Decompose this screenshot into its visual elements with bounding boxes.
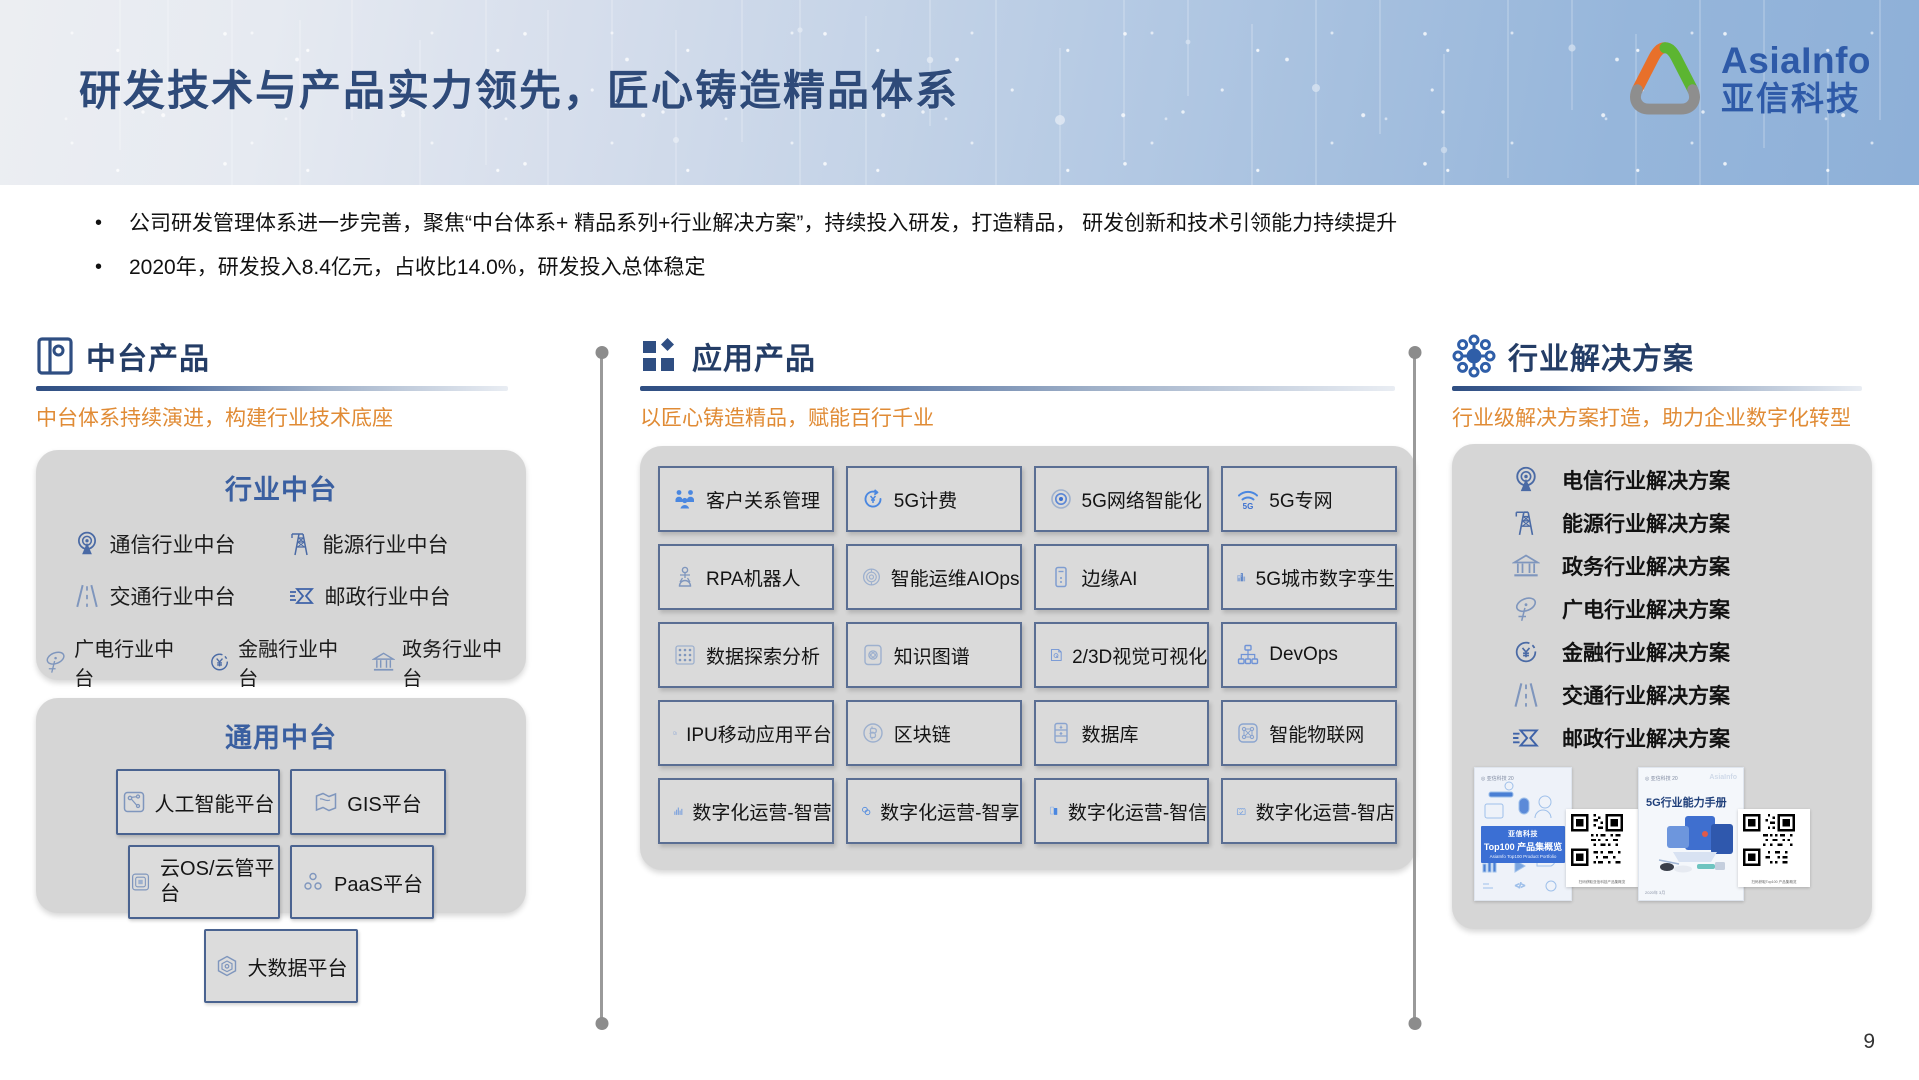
solutions-panel: 电信行业解决方案 能源行业解决方案 政务行业解决方案	[1452, 444, 1872, 929]
satellite-dish-icon	[1512, 595, 1540, 623]
bar-chart-icon	[673, 799, 683, 823]
slide-root: 研发技术与产品实力领先，匠心铸造精品体系 AsiaInfo 亚信科技 • 公司研…	[0, 0, 1919, 1080]
app-tile-label: 5G网络智能化	[1082, 486, 1202, 513]
solution-item-postal[interactable]: 邮政行业解决方案	[1452, 716, 1872, 759]
map-icon	[314, 790, 338, 814]
asiainfo-ring-icon	[1623, 36, 1707, 120]
general-panel-title: 通用中台	[36, 716, 526, 755]
application-column-header: 应用产品	[640, 330, 1415, 382]
app-tile-iot[interactable]: 智能物联网	[1221, 700, 1397, 766]
aiops-icon	[861, 565, 882, 589]
brochure-cover-5g: ◎ 亚信科技 20 AsiaInfo 5G行业能力手册	[1638, 767, 1744, 901]
brochure-cover-top100: ◎ 亚信科技 20	[1474, 767, 1572, 901]
industry-item-finance: 金融行业中台	[208, 633, 354, 691]
brochure-title-band: 亚信科技 Top100 产品集概览 AsiaInfo Top100 Produc…	[1481, 826, 1565, 863]
summary-bullets: • 公司研发管理体系进一步完善，聚焦“中台体系+ 精品系列+行业解决方案”，持续…	[95, 208, 1855, 295]
industry-panel-title: 行业中台	[36, 468, 526, 507]
app-tile-knowledge-graph[interactable]: 知识图谱	[846, 622, 1022, 688]
app-tile-aiops[interactable]: 智能运维AIOps	[846, 544, 1022, 610]
page-title: 研发技术与产品实力领先，匠心铸造精品体系	[79, 57, 959, 118]
bullet-marker-icon: •	[95, 252, 129, 283]
app-tile-5g-network-ai[interactable]: 5G网络智能化	[1034, 466, 1210, 532]
solution-item-finance[interactable]: 金融行业解决方案	[1452, 630, 1872, 673]
qr-code-top100[interactable]: 扫码获取亚信科技产品集概览	[1566, 809, 1638, 887]
app-tile-label: 数字化运营-智店	[1256, 798, 1395, 825]
brochure-date: 2020年 3月	[1645, 890, 1665, 896]
app-tile-label: RPA机器人	[706, 564, 801, 591]
industry-item-label: 邮政行业中台	[325, 581, 451, 611]
app-tile-devops[interactable]: DevOps	[1221, 622, 1397, 688]
edge-server-icon	[1049, 565, 1073, 589]
signal-tower-icon	[74, 531, 100, 557]
app-tile-edge-ai[interactable]: 边缘AI	[1034, 544, 1210, 610]
column-application-products: 应用产品 以匠心铸造精品，赋能百行千业 客户关系管理	[640, 330, 1415, 870]
tile-gis-platform[interactable]: GIS平台	[290, 769, 446, 835]
city-buildings-icon	[1236, 565, 1246, 589]
svg-text:5G: 5G	[1243, 502, 1254, 511]
tile-label: 人工智能平台	[155, 788, 275, 817]
solutions-column-title: 行业解决方案	[1508, 334, 1694, 378]
app-tile-label: 5G专网	[1269, 486, 1332, 513]
industry-platform-list: 通信行业中台 能源行业中台	[36, 529, 526, 691]
ai-network-icon	[122, 790, 146, 814]
industry-item-transport: 交通行业中台	[74, 581, 289, 611]
qr-caption: 扫码获取Top100 产品集概览	[1738, 880, 1810, 885]
industry-item-label: 政务行业中台	[402, 633, 518, 691]
solution-item-label: 金融行业解决方案	[1562, 637, 1730, 667]
bullet-item: • 2020年，研发投入8.4亿元，占收比14.0%，研发投入总体稳定	[95, 252, 1855, 285]
bigdata-icon	[215, 954, 239, 978]
divider-dot-top	[1408, 346, 1421, 359]
platform-column-rule	[36, 386, 508, 391]
industry-item-label: 交通行业中台	[110, 581, 236, 611]
crm-users-icon	[673, 487, 697, 511]
divider-dot-bottom	[1408, 1017, 1421, 1030]
column-divider-right	[1413, 352, 1416, 1024]
divider-dot-top	[595, 346, 608, 359]
billing-yuan-icon	[861, 487, 885, 511]
knowledge-graph-icon	[861, 643, 885, 667]
hub-nodes-icon	[1452, 334, 1496, 378]
platform-column-subtitle: 中台体系持续演进，构建行业技术底座	[36, 405, 526, 432]
app-tile-label: 5G城市数字孪生	[1256, 564, 1395, 591]
application-row: RPA机器人 智能运维AIOps	[658, 544, 1397, 610]
mail-express-icon	[289, 585, 315, 607]
solution-item-transport[interactable]: 交通行业解决方案	[1452, 673, 1872, 716]
3d-view-icon	[1049, 643, 1064, 667]
qr-caption: 扫码获取亚信科技产品集概览	[1566, 880, 1638, 885]
app-tile-label: 数字化运营-智信	[1068, 798, 1207, 825]
industry-platform-panel: 行业中台 通信行业中台	[36, 450, 526, 680]
bullet-item: • 公司研发管理体系进一步完善，聚焦“中台体系+ 精品系列+行业解决方案”，持续…	[95, 208, 1855, 241]
cloud-os-icon	[130, 870, 151, 894]
solution-item-energy[interactable]: 能源行业解决方案	[1452, 501, 1872, 544]
app-tile-digital-ops-zhidian[interactable]: 数字化运营-智店	[1221, 778, 1397, 844]
road-icon	[1512, 681, 1540, 709]
app-tile-label: DevOps	[1269, 644, 1338, 666]
industry-row: 交通行业中台 邮政行业中台	[36, 581, 526, 611]
divider-dot-bottom	[595, 1017, 608, 1030]
iot-icon	[1236, 721, 1260, 745]
brochure-gallery: ◎ 亚信科技 20	[1452, 759, 1872, 901]
bank-building-icon	[1512, 552, 1540, 580]
paas-icon	[301, 870, 325, 894]
app-tile-ipu-mobile[interactable]: IPU移动应用平台	[658, 700, 834, 766]
application-row: 数据探索分析 知识图谱	[658, 622, 1397, 688]
solution-item-telecom[interactable]: 电信行业解决方案	[1452, 458, 1872, 501]
mail-express-icon	[1512, 726, 1540, 750]
brochure-artwork	[1639, 768, 1743, 900]
asiainfo-logo: AsiaInfo 亚信科技	[1623, 36, 1871, 120]
brochure-subtitle: AsiaInfo Top100 Product Portfolio	[1481, 854, 1565, 859]
bullet-text: 2020年，研发投入8.4亿元，占收比14.0%，研发投入总体稳定	[129, 252, 1855, 285]
bullet-text: 公司研发管理体系进一步完善，聚焦“中台体系+ 精品系列+行业解决方案”，持续投入…	[129, 208, 1855, 241]
application-products-panel: 客户关系管理 5G计费 5G网络智能化	[640, 446, 1415, 870]
shop-icon	[1236, 799, 1246, 823]
blockchain-icon	[861, 721, 885, 745]
application-row: IPU移动应用平台 区块链 数据库	[658, 700, 1397, 766]
industry-item-label: 能源行业中台	[323, 529, 449, 559]
industry-item-label: 通信行业中台	[110, 529, 236, 559]
brochure-brand: 亚信科技	[1481, 829, 1565, 839]
brochure-top100[interactable]: ◎ 亚信科技 20	[1474, 767, 1572, 901]
app-tile-database[interactable]: 数据库	[1034, 700, 1210, 766]
devops-tree-icon	[1236, 643, 1260, 667]
app-tile-5g-private-net[interactable]: 5G 5G专网	[1221, 466, 1397, 532]
satellite-dish-icon	[44, 649, 67, 675]
solution-item-government[interactable]: 政务行业解决方案	[1452, 544, 1872, 587]
app-tile-crm[interactable]: 客户关系管理	[658, 466, 834, 532]
app-tile-digital-ops-zhixin[interactable]: 数字化运营-智信	[1034, 778, 1210, 844]
app-tile-blockchain[interactable]: 区块链	[846, 700, 1022, 766]
app-tile-label: 2/3D视觉可视化	[1072, 642, 1207, 669]
solutions-column-header: 行业解决方案	[1452, 330, 1872, 382]
rpa-robot-icon	[673, 565, 697, 589]
app-tile-label: 数字化运营-智营	[692, 798, 831, 825]
tile-bigdata-platform[interactable]: 大数据平台	[204, 929, 358, 1003]
brochure-title: Top100 产品集概览	[1481, 840, 1565, 853]
app-tile-3d-visual[interactable]: 2/3D视觉可视化	[1034, 622, 1210, 688]
app-tile-label: 5G计费	[894, 486, 957, 513]
signal-tower-icon	[1512, 466, 1540, 494]
logo-wordmark: AsiaInfo 亚信科技	[1721, 42, 1871, 115]
qr-code-icon	[1743, 814, 1795, 866]
industry-item-broadcast: 广电行业中台	[44, 633, 190, 691]
app-tile-label: 知识图谱	[894, 642, 970, 669]
logo-english: AsiaInfo	[1721, 42, 1871, 79]
database-icon	[1049, 721, 1073, 745]
industry-item-telecom: 通信行业中台	[74, 529, 289, 559]
industry-row: 广电行业中台 金融行业中台	[36, 633, 526, 691]
app-tile-label: IPU移动应用平台	[686, 720, 832, 747]
svg-text:</>: </>	[1515, 883, 1525, 890]
general-platform-panel: 通用中台 人工智能平台	[36, 698, 526, 913]
platform-icon	[36, 336, 74, 376]
app-tile-label: 数字化运营-智享	[880, 798, 1019, 825]
qr-code-icon	[1571, 814, 1623, 866]
tile-label: GIS平台	[347, 788, 421, 817]
tile-label: 云OS/云管平台	[160, 857, 278, 907]
column-platform-products: 中台产品 中台体系持续演进，构建行业技术底座 行业中台 通信行业中台	[36, 330, 526, 913]
yuan-coin-icon	[1512, 638, 1540, 666]
bullet-marker-icon: •	[95, 208, 129, 239]
industry-item-postal: 邮政行业中台	[289, 581, 489, 611]
industry-item-government: 政务行业中台	[372, 633, 518, 691]
industry-row: 通信行业中台 能源行业中台	[36, 529, 526, 559]
solution-item-label: 政务行业解决方案	[1562, 551, 1730, 581]
page-number: 9	[1863, 1030, 1875, 1054]
app-tile-digital-ops-zhiying[interactable]: 数字化运营-智营	[658, 778, 834, 844]
app-tile-label: 数据库	[1082, 720, 1139, 747]
app-tile-label: 数据探索分析	[706, 642, 820, 669]
yuan-coin-icon	[208, 650, 231, 674]
platform-column-header: 中台产品	[36, 330, 526, 382]
power-tower-icon	[289, 531, 313, 557]
application-row: 客户关系管理 5G计费 5G网络智能化	[658, 466, 1397, 532]
app-squares-icon	[640, 336, 680, 376]
app-tile-label: 智能物联网	[1269, 720, 1364, 747]
solutions-column-rule	[1452, 386, 1862, 391]
message-icon	[1049, 799, 1059, 823]
road-icon	[74, 583, 100, 609]
app-tile-rpa[interactable]: RPA机器人	[658, 544, 834, 610]
column-industry-solutions: 行业解决方案 行业级解决方案打造，助力企业数字化转型 电信行业解决方案	[1452, 330, 1872, 929]
column-divider-left	[600, 352, 603, 1024]
logo-chinese: 亚信科技	[1721, 82, 1871, 115]
mobile-platform-icon	[673, 721, 677, 745]
link-share-icon	[861, 799, 871, 823]
tile-cloud-os[interactable]: 云OS/云管平台	[128, 845, 280, 919]
solution-item-label: 电信行业解决方案	[1562, 465, 1730, 495]
app-tile-digital-ops-zhixiang[interactable]: 数字化运营-智享	[846, 778, 1022, 844]
industry-item-label: 金融行业中台	[238, 633, 354, 691]
application-column-rule	[640, 386, 1395, 391]
app-tile-label: 客户关系管理	[706, 486, 820, 513]
bank-building-icon	[372, 650, 395, 674]
solutions-column-subtitle: 行业级解决方案打造，助力企业数字化转型	[1452, 405, 1872, 432]
qr-code-5g[interactable]: 扫码获取Top100 产品集概览	[1738, 809, 1810, 887]
tile-ai-platform[interactable]: 人工智能平台	[116, 769, 280, 835]
brochure-5g[interactable]: ◎ 亚信科技 20 AsiaInfo 5G行业能力手册	[1638, 767, 1744, 901]
general-platform-tiles: 人工智能平台 GIS平台 云OS/云管平台	[36, 769, 526, 1003]
app-tile-5g-digital-twin[interactable]: 5G城市数字孪生	[1221, 544, 1397, 610]
application-row: 数字化运营-智营 数字化运营-智享 数字化运营-智信	[658, 778, 1397, 844]
app-tile-label: 边缘AI	[1082, 564, 1138, 591]
data-explore-icon	[673, 643, 697, 667]
application-column-title: 应用产品	[692, 334, 816, 378]
app-tile-data-explore[interactable]: 数据探索分析	[658, 622, 834, 688]
power-tower-icon	[1512, 509, 1540, 537]
application-column-subtitle: 以匠心铸造精品，赋能百行千业	[640, 405, 1415, 432]
tile-paas-platform[interactable]: PaaS平台	[290, 845, 434, 919]
app-tile-label: 区块链	[894, 720, 951, 747]
industry-item-label: 广电行业中台	[74, 633, 190, 691]
header-banner: 研发技术与产品实力领先，匠心铸造精品体系 AsiaInfo 亚信科技	[0, 0, 1919, 185]
solution-item-broadcast[interactable]: 广电行业解决方案	[1452, 587, 1872, 630]
wifi-5g-icon: 5G	[1236, 487, 1260, 511]
solution-item-label: 邮政行业解决方案	[1562, 723, 1730, 753]
solution-item-label: 广电行业解决方案	[1562, 594, 1730, 624]
industry-item-energy: 能源行业中台	[289, 529, 489, 559]
app-tile-5g-billing[interactable]: 5G计费	[846, 466, 1022, 532]
solution-item-label: 能源行业解决方案	[1562, 508, 1730, 538]
network-target-icon	[1049, 487, 1073, 511]
tile-label: PaaS平台	[334, 868, 423, 897]
app-tile-label: 智能运维AIOps	[891, 564, 1020, 591]
platform-column-title: 中台产品	[86, 334, 210, 378]
tile-label: 大数据平台	[248, 952, 348, 981]
solution-item-label: 交通行业解决方案	[1562, 680, 1730, 710]
